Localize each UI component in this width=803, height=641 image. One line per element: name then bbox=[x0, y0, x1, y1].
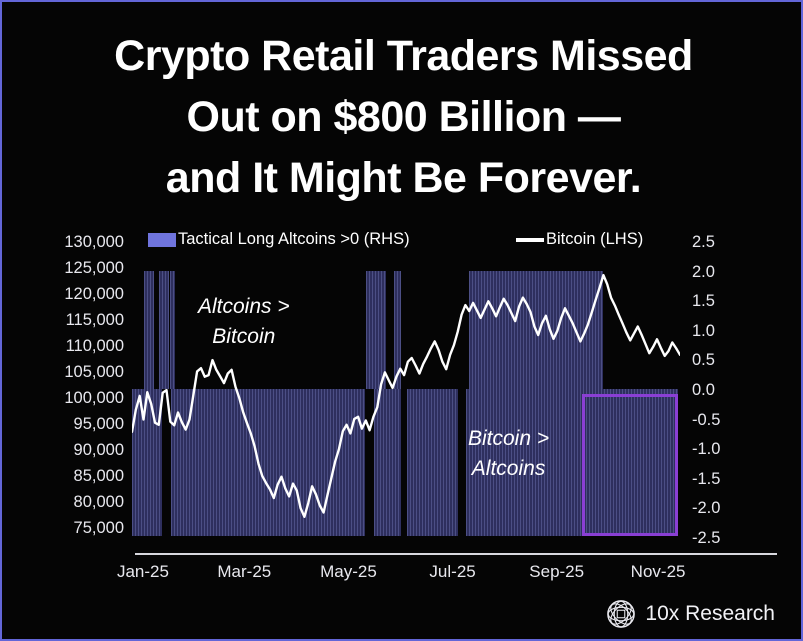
y-axis-left: 130,000125,000120,000115,000110,000105,0… bbox=[32, 242, 124, 536]
y-tick-left: 120,000 bbox=[64, 285, 124, 304]
annotation-altcoins-outperform: Altcoins > Bitcoin bbox=[198, 292, 290, 353]
y-tick-right: -2.0 bbox=[692, 499, 720, 518]
y-tick-right: -1.5 bbox=[692, 470, 720, 489]
y-tick-right: -1.0 bbox=[692, 440, 720, 459]
x-tick: Jan-25 bbox=[117, 562, 169, 582]
y-tick-left: 110,000 bbox=[66, 337, 124, 356]
title-line-2: Out on $800 Billion — bbox=[20, 87, 787, 148]
y-tick-left: 125,000 bbox=[64, 259, 124, 278]
title-line-1: Crypto Retail Traders Missed bbox=[20, 26, 787, 87]
annotation-altcoins-line-1: Altcoins > bbox=[198, 292, 290, 322]
y-tick-right: 0.5 bbox=[692, 351, 715, 370]
x-tick: Sep-25 bbox=[529, 562, 584, 582]
y-tick-left: 105,000 bbox=[64, 363, 124, 382]
page-title: Crypto Retail Traders Missed Out on $800… bbox=[2, 26, 803, 209]
annotation-bitcoin-outperform: Bitcoin > Altcoins bbox=[468, 424, 549, 485]
y-tick-left: 85,000 bbox=[74, 467, 124, 486]
x-tick: Mar-25 bbox=[217, 562, 271, 582]
legend-line-icon bbox=[516, 238, 544, 242]
y-tick-right: 2.5 bbox=[692, 233, 715, 252]
y-tick-left: 75,000 bbox=[74, 519, 124, 538]
x-tick: Jul-25 bbox=[429, 562, 475, 582]
brand-name: 10x Research bbox=[645, 602, 775, 626]
woven-circle-logo-icon bbox=[606, 599, 636, 629]
annotation-bitcoin-line-1: Bitcoin > bbox=[468, 424, 549, 454]
y-tick-left: 115,000 bbox=[66, 311, 124, 330]
title-line-3: and It Might Be Forever. bbox=[20, 148, 787, 209]
chart-card: Crypto Retail Traders Missed Out on $800… bbox=[0, 0, 803, 641]
annotation-bitcoin-line-2: Altcoins bbox=[468, 454, 549, 484]
x-tick: Nov-25 bbox=[631, 562, 686, 582]
plot-area bbox=[132, 242, 680, 536]
x-axis: Jan-25Mar-25May-25Jul-25Sep-25Nov-25 bbox=[132, 562, 680, 586]
y-tick-right: 1.0 bbox=[692, 322, 715, 341]
y-tick-left: 100,000 bbox=[64, 389, 124, 408]
line-series-bitcoin bbox=[132, 242, 680, 536]
y-tick-right: 2.0 bbox=[692, 263, 715, 282]
y-tick-right: -0.5 bbox=[692, 411, 720, 430]
y-tick-left: 95,000 bbox=[74, 415, 124, 434]
y-tick-right: 0.0 bbox=[692, 381, 715, 400]
y-axis-right: 2.52.01.51.00.50.0-0.5-1.0-1.5-2.0-2.5 bbox=[692, 242, 772, 536]
x-axis-line bbox=[135, 553, 777, 555]
y-tick-right: 1.5 bbox=[692, 292, 715, 311]
y-tick-left: 80,000 bbox=[74, 493, 124, 512]
y-tick-left: 90,000 bbox=[74, 441, 124, 460]
x-tick: May-25 bbox=[320, 562, 377, 582]
y-tick-right: -2.5 bbox=[692, 529, 720, 548]
brand-footer: 10x Research bbox=[606, 599, 775, 629]
annotation-altcoins-line-2: Bitcoin bbox=[198, 322, 290, 352]
y-tick-left: 130,000 bbox=[64, 233, 124, 252]
